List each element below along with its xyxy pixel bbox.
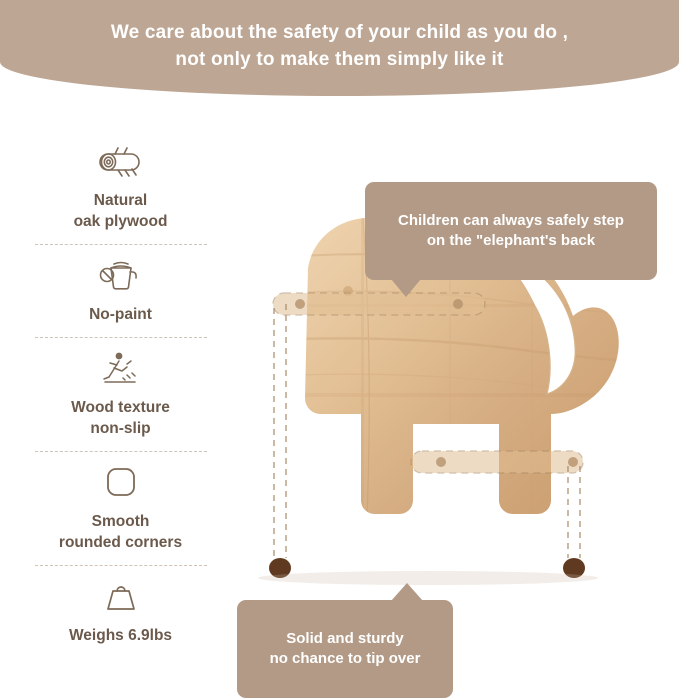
feature-label: Natural oak plywood — [74, 190, 168, 232]
header-line-2: not only to make them simply like it — [175, 46, 503, 73]
rounded-square-icon — [98, 461, 144, 505]
support-rail-top — [273, 293, 485, 315]
feature-item-no-paint: No-paint — [28, 244, 213, 337]
callout-bottom: Solid and sturdy no chance to tip over — [237, 600, 453, 698]
support-rail-bottom — [411, 451, 583, 473]
weight-icon — [98, 575, 144, 619]
paint-bucket-crossed-icon — [98, 254, 144, 298]
feature-item-natural-oak-plywood: Natural oak plywood — [28, 130, 213, 244]
feature-item-weight: Weighs 6.9lbs — [28, 565, 213, 658]
feature-list: Natural oak plywood No-paint — [28, 130, 213, 658]
floor-shadow — [258, 571, 598, 585]
feature-item-wood-texture-non-slip: Wood texture non-slip — [28, 337, 213, 451]
header-line-1: We care about the safety of your child a… — [111, 19, 568, 46]
feature-item-smooth-rounded-corners: Smooth rounded corners — [28, 451, 213, 565]
feature-label: Weighs 6.9lbs — [69, 625, 172, 646]
log-wood-icon — [98, 140, 144, 184]
slip-hazard-icon — [98, 347, 144, 391]
callout-top-text: Children can always safely step on the "… — [398, 212, 624, 249]
feature-label: Smooth rounded corners — [59, 511, 182, 553]
callout-top: Children can always safely step on the "… — [365, 182, 657, 280]
header-banner: We care about the safety of your child a… — [0, 0, 679, 96]
feature-label: Wood texture non-slip — [71, 397, 170, 439]
feature-label: No-paint — [89, 304, 152, 325]
callout-bottom-tail — [391, 583, 423, 601]
callout-top-tail — [391, 279, 421, 297]
